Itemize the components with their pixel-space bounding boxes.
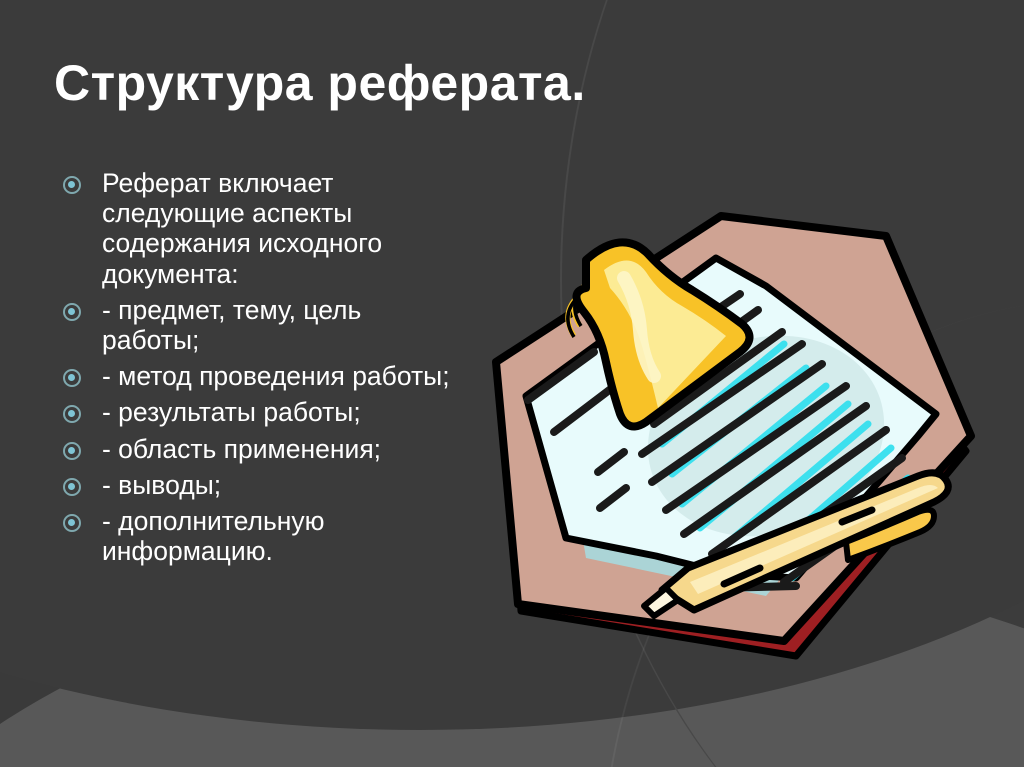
ring-dot-bullet-icon <box>63 405 81 423</box>
list-item: - область применения; <box>56 434 456 464</box>
ring-dot-bullet-icon <box>63 176 81 194</box>
list-item-label: - результаты работы; <box>102 397 456 427</box>
list-item: - предмет, тему, цель работы; <box>56 295 456 355</box>
ring-dot-bullet-icon <box>63 478 81 496</box>
list-item: - выводы; <box>56 470 456 500</box>
list-item: - дополнительную информацию. <box>56 506 456 566</box>
slide: Структура реферата. Реферат включает сле… <box>0 0 1024 767</box>
bullet-list: Реферат включает следующие аспекты содер… <box>56 168 456 572</box>
list-item-label: - дополнительную информацию. <box>102 506 456 566</box>
list-item-label: Реферат включает следующие аспекты содер… <box>102 168 456 289</box>
list-item-label: - предмет, тему, цель работы; <box>102 295 456 355</box>
ring-dot-bullet-icon <box>63 514 81 532</box>
ring-dot-bullet-icon <box>63 442 81 460</box>
list-item: Реферат включает следующие аспекты содер… <box>56 168 456 289</box>
list-item: - результаты работы; <box>56 397 456 427</box>
clipboard-group <box>496 216 971 656</box>
list-item: - метод проведения работы; <box>56 361 456 391</box>
clipboard-with-document-and-pen-illustration <box>466 186 1024 666</box>
ring-dot-bullet-icon <box>63 303 81 321</box>
ring-dot-bullet-icon <box>63 369 81 387</box>
list-item-label: - выводы; <box>102 470 456 500</box>
list-item-label: - область применения; <box>102 434 456 464</box>
page-title: Структура реферата. <box>54 56 754 111</box>
list-item-label: - метод проведения работы; <box>102 361 456 391</box>
